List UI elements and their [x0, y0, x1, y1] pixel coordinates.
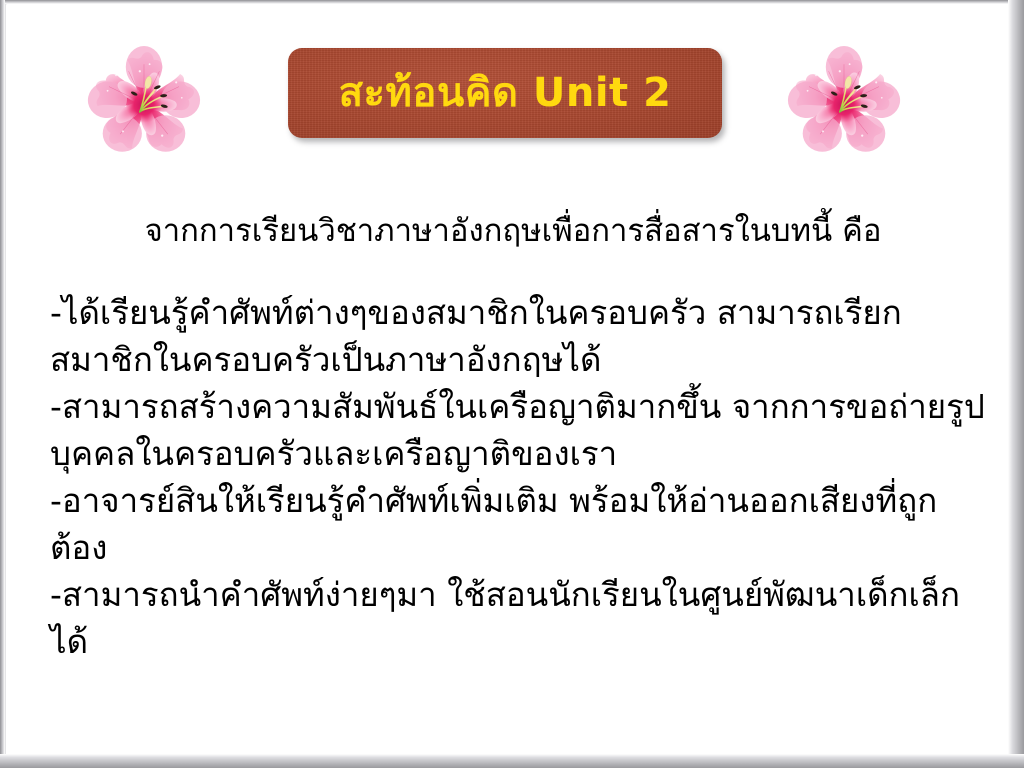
reflection-bullet-list: -ได้เรียนรู้คำศัพท์ต่างๆของสมาชิกในครอบค… — [50, 289, 985, 665]
title-banner: สะท้อนคิด Unit 2 — [288, 48, 722, 138]
pink-lily-flower-icon — [74, 32, 214, 172]
intro-sentence: จากการเรียนวิชาภาษาอังกฤษเพื่อการสื่อสาร… — [12, 211, 1014, 253]
bullet-item: -สามารถสร้างความสัมพันธ์ในเครือญาติมากขึ… — [50, 383, 985, 477]
slide-root: สะท้อนคิด Unit 2 — [0, 0, 1024, 768]
slide-canvas: สะท้อนคิด Unit 2 — [6, 5, 1008, 755]
slide-frame-left-edge — [0, 0, 5, 768]
bullet-item: -อาจารย์สินให้เรียนรู้คำศัพท์เพิ่มเติม พ… — [50, 477, 985, 571]
pink-lily-flower-icon — [774, 32, 914, 172]
slide-title: สะท้อนคิด Unit 2 — [339, 73, 672, 113]
slide-frame-bottom-shadow — [0, 754, 1024, 768]
bullet-item: -ได้เรียนรู้คำศัพท์ต่างๆของสมาชิกในครอบค… — [50, 289, 985, 383]
bullet-item: -สามารถนำคำศัพท์ง่ายๆมา ใช้สอนนักเรียนใน… — [50, 571, 985, 665]
slide-frame-top-edge — [0, 0, 1024, 4]
slide-frame-right-shadow — [1008, 0, 1024, 768]
